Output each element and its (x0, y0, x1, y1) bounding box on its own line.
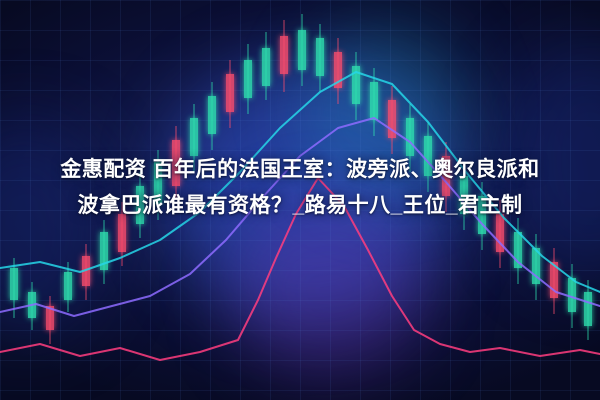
headline-line-1: 金惠配资 百年后的法国王室：波旁派、奥尔良派和 (8, 152, 592, 188)
headline-line-2: 波拿巴派谁最有资格？_路易十八_王位_君主制 (8, 188, 592, 224)
background-image: 金惠配资 百年后的法国王室：波旁派、奥尔良派和 波拿巴派谁最有资格？_路易十八_… (0, 0, 600, 400)
headline-block: 金惠配资 百年后的法国王室：波旁派、奥尔良派和 波拿巴派谁最有资格？_路易十八_… (0, 152, 600, 224)
